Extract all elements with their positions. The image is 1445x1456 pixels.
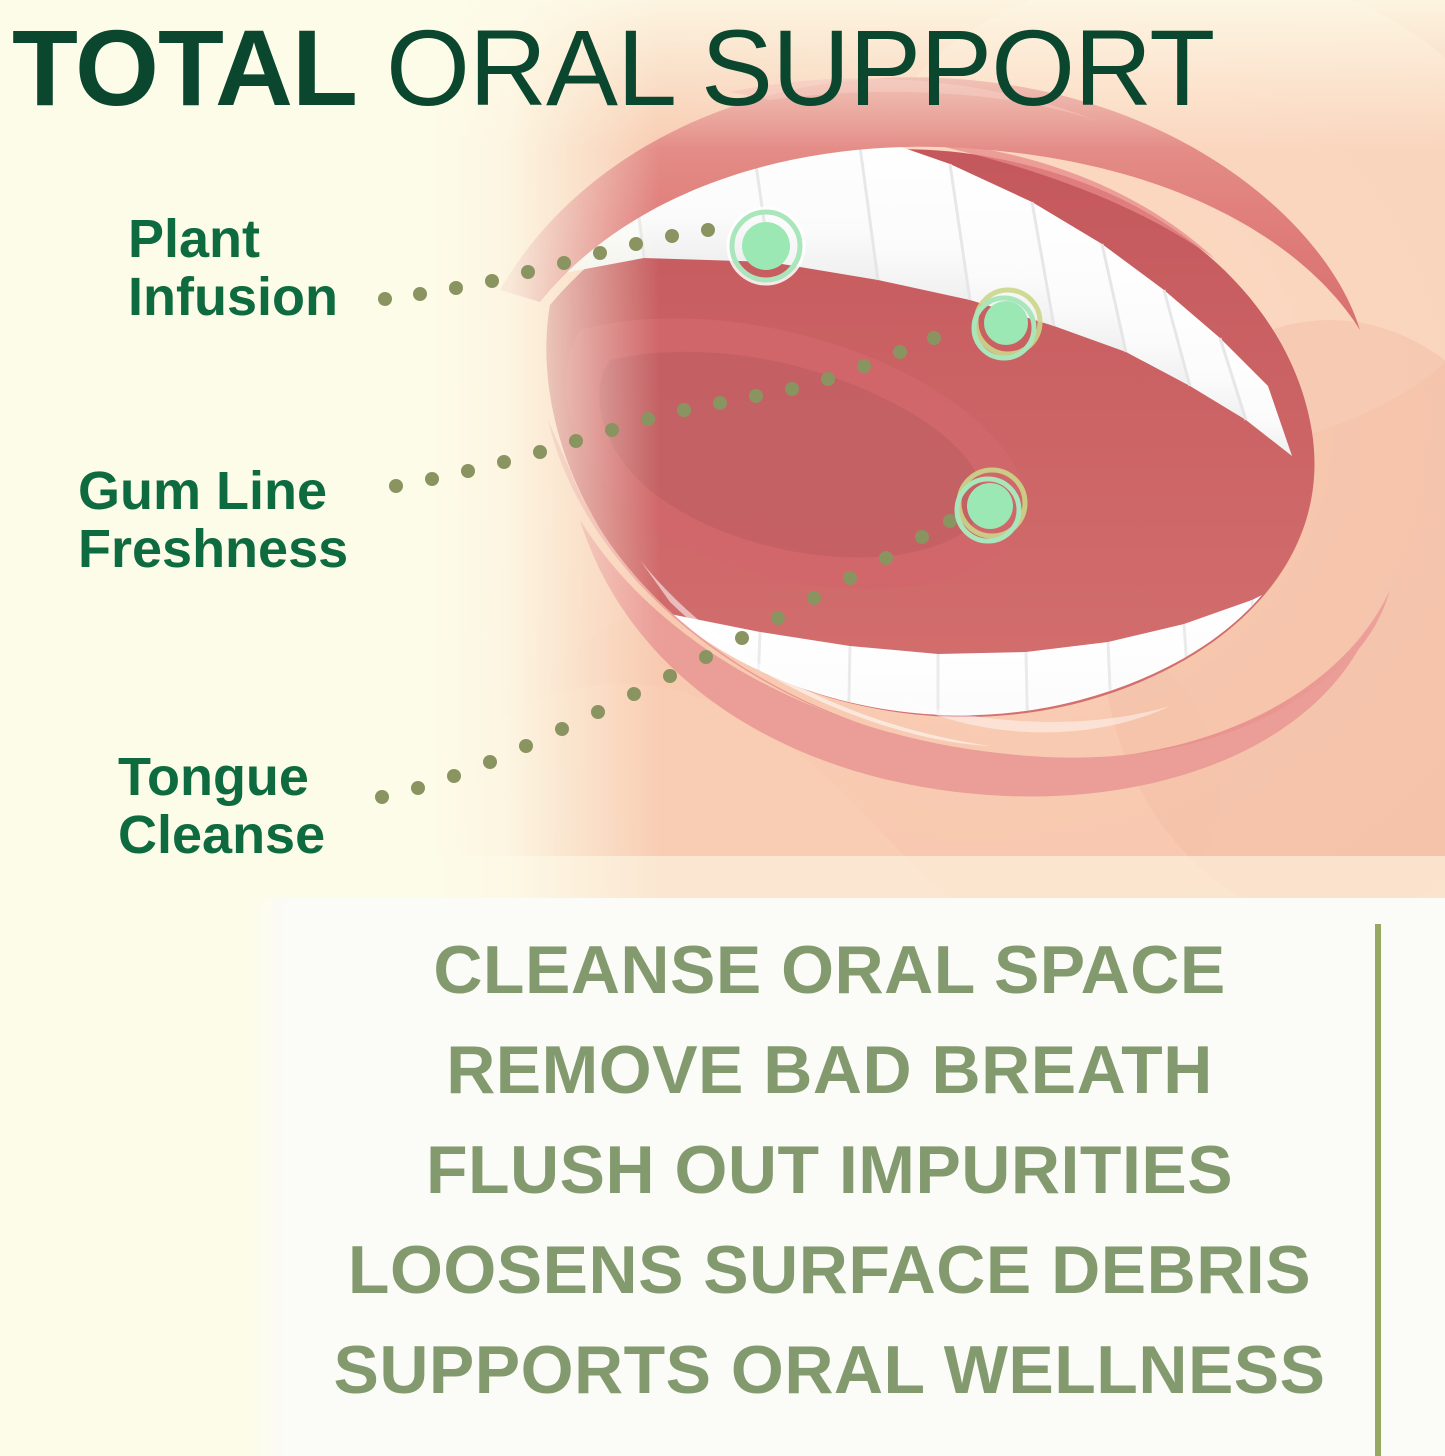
callout-label-gum-line-freshness: Gum Line Freshness <box>78 462 348 579</box>
benefits-list: CLEANSE ORAL SPACE REMOVE BAD BREATH FLU… <box>282 920 1377 1420</box>
page-title-bold: TOTAL <box>12 7 357 128</box>
callout-label-plant-infusion: Plant Infusion <box>128 210 338 327</box>
benefit-item: FLUSH OUT IMPURITIES <box>282 1120 1377 1220</box>
benefits-vertical-rule <box>1375 924 1381 1456</box>
page-title-light: ORAL SUPPORT <box>357 7 1214 128</box>
benefits-panel: CLEANSE ORAL SPACE REMOVE BAD BREATH FLU… <box>282 898 1445 1456</box>
callout-label-tongue-cleanse: Tongue Cleanse <box>118 748 325 865</box>
page-title: TOTAL ORAL SUPPORT <box>12 14 1437 122</box>
benefit-item: CLEANSE ORAL SPACE <box>282 920 1377 1020</box>
mouth-photo <box>430 0 1445 930</box>
benefit-item: LOOSENS SURFACE DEBRIS <box>282 1220 1377 1320</box>
promo-graphic-root: TOTAL ORAL SUPPORT <box>0 0 1445 1456</box>
benefit-item: SUPPORTS ORAL WELLNESS <box>282 1320 1377 1420</box>
benefit-item: REMOVE BAD BREATH <box>282 1020 1377 1120</box>
